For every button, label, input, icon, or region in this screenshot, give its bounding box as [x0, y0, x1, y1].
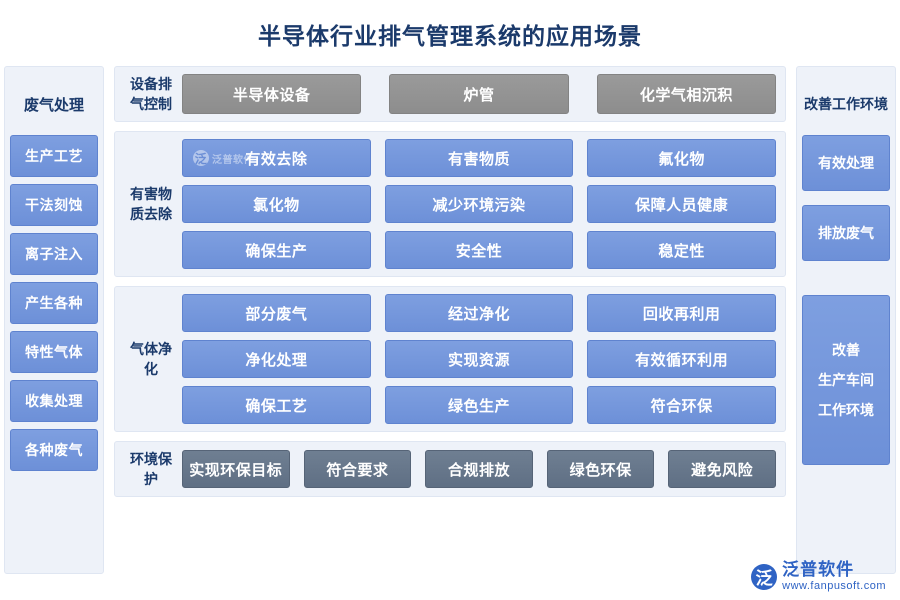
env-cell-0-2[interactable]: 合规排放 — [425, 450, 533, 488]
right-tall-line-0: 改善 — [832, 335, 860, 365]
brand-name: 泛普软件 — [782, 561, 886, 580]
purify-cell-1-2[interactable]: 有效循环利用 — [587, 340, 776, 378]
section-purify-row-0: 部分废气 经过净化 回收再利用 — [182, 294, 776, 332]
middle-column: 设备排气控制 半导体设备 炉管 化学气相沉积 有害物质去除 泛 泛普软件 — [110, 66, 790, 578]
left-item-4[interactable]: 特性气体 — [10, 331, 98, 373]
section-purify-row-1: 净化处理 实现资源 有效循环利用 — [182, 340, 776, 378]
left-item-5[interactable]: 收集处理 — [10, 380, 98, 422]
purify-cell-2-2[interactable]: 符合环保 — [587, 386, 776, 424]
brand-logo: 泛 泛普软件 www.fanpusoft.com — [751, 561, 886, 592]
harmful-cell-0-0[interactable]: 泛 泛普软件 有效去除 — [182, 139, 371, 177]
harmful-cell-2-0[interactable]: 确保生产 — [182, 231, 371, 269]
left-item-2[interactable]: 离子注入 — [10, 233, 98, 275]
harmful-cell-1-2[interactable]: 保障人员健康 — [587, 185, 776, 223]
env-cell-0-1[interactable]: 符合要求 — [304, 450, 412, 488]
left-item-3[interactable]: 产生各种 — [10, 282, 98, 324]
harmful-cell-2-2[interactable]: 稳定性 — [587, 231, 776, 269]
right-tall-line-2: 工作环境 — [818, 395, 874, 425]
right-panel-heading: 改善工作环境 — [802, 73, 890, 135]
env-cell-0-3[interactable]: 绿色环保 — [547, 450, 655, 488]
right-item-1[interactable]: 排放废气 — [802, 205, 890, 261]
section-purify-grid: 部分废气 经过净化 回收再利用 净化处理 实现资源 有效循环利用 确保工艺 绿色… — [182, 294, 776, 424]
section-env-row-0: 实现环保目标 符合要求 合规排放 绿色环保 避免风险 — [182, 450, 776, 488]
brand-mark-icon: 泛 — [751, 564, 777, 590]
purify-cell-2-1[interactable]: 绿色生产 — [385, 386, 574, 424]
purify-cell-2-0[interactable]: 确保工艺 — [182, 386, 371, 424]
work-environment-panel: 改善工作环境 有效处理 排放废气 改善 生产车间 工作环境 — [796, 66, 896, 574]
diagram-board: 废气处理 生产工艺 干法刻蚀 离子注入 产生各种 特性气体 收集处理 各种废气 … — [0, 66, 900, 578]
brand-url: www.fanpusoft.com — [782, 580, 886, 592]
harmful-cell-1-0[interactable]: 氯化物 — [182, 185, 371, 223]
section-env-label: 环境保护 — [124, 449, 182, 489]
right-tall-line-1: 生产车间 — [818, 365, 874, 395]
section-harmful-row-0: 泛 泛普软件 有效去除 有害物质 氟化物 — [182, 139, 776, 177]
section-purify-row-2: 确保工艺 绿色生产 符合环保 — [182, 386, 776, 424]
section-harmful-label: 有害物质去除 — [124, 184, 182, 224]
section-env-grid: 实现环保目标 符合要求 合规排放 绿色环保 避免风险 — [182, 450, 776, 488]
page-title: 半导体行业排气管理系统的应用场景 — [0, 0, 900, 66]
purify-cell-0-2[interactable]: 回收再利用 — [587, 294, 776, 332]
section-gas-purification: 气体净化 部分废气 经过净化 回收再利用 净化处理 实现资源 有效循环利用 确保… — [114, 286, 786, 432]
section-equipment-label: 设备排气控制 — [124, 74, 182, 114]
harmful-cell-0-2[interactable]: 氟化物 — [587, 139, 776, 177]
equipment-cell-0-1[interactable]: 炉管 — [389, 74, 568, 114]
purify-cell-1-1[interactable]: 实现资源 — [385, 340, 574, 378]
section-harmful-grid: 泛 泛普软件 有效去除 有害物质 氟化物 氯化物 减少环境污染 保障人员健康 确… — [182, 139, 776, 269]
right-item-0[interactable]: 有效处理 — [802, 135, 890, 191]
left-item-6[interactable]: 各种废气 — [10, 429, 98, 471]
watermark-text: 泛普软件 — [212, 151, 254, 166]
harmful-cell-2-1[interactable]: 安全性 — [385, 231, 574, 269]
section-purify-label: 气体净化 — [124, 339, 182, 379]
left-item-0[interactable]: 生产工艺 — [10, 135, 98, 177]
left-panel-heading: 废气处理 — [10, 73, 98, 135]
env-cell-0-4[interactable]: 避免风险 — [668, 450, 776, 488]
section-environment-protection: 环境保护 实现环保目标 符合要求 合规排放 绿色环保 避免风险 — [114, 441, 786, 497]
waste-gas-panel: 废气处理 生产工艺 干法刻蚀 离子注入 产生各种 特性气体 收集处理 各种废气 — [4, 66, 104, 574]
section-harmful-removal: 有害物质去除 泛 泛普软件 有效去除 有害物质 氟化物 氯化物 减少环境污染 — [114, 131, 786, 277]
right-item-tall[interactable]: 改善 生产车间 工作环境 — [802, 295, 890, 465]
left-item-1[interactable]: 干法刻蚀 — [10, 184, 98, 226]
left-column: 废气处理 生产工艺 干法刻蚀 离子注入 产生各种 特性气体 收集处理 各种废气 — [0, 66, 110, 578]
section-equipment-control: 设备排气控制 半导体设备 炉管 化学气相沉积 — [114, 66, 786, 122]
section-harmful-row-1: 氯化物 减少环境污染 保障人员健康 — [182, 185, 776, 223]
section-harmful-row-2: 确保生产 安全性 稳定性 — [182, 231, 776, 269]
equipment-cell-0-2[interactable]: 化学气相沉积 — [597, 74, 776, 114]
harmful-cell-1-1[interactable]: 减少环境污染 — [385, 185, 574, 223]
purify-cell-1-0[interactable]: 净化处理 — [182, 340, 371, 378]
purify-cell-0-0[interactable]: 部分废气 — [182, 294, 371, 332]
section-equipment-grid: 半导体设备 炉管 化学气相沉积 — [182, 74, 776, 114]
brand-text: 泛普软件 www.fanpusoft.com — [782, 561, 886, 592]
section-equipment-row-0: 半导体设备 炉管 化学气相沉积 — [182, 74, 776, 114]
harmful-cell-0-1[interactable]: 有害物质 — [385, 139, 574, 177]
equipment-cell-0-0[interactable]: 半导体设备 — [182, 74, 361, 114]
right-column: 改善工作环境 有效处理 排放废气 改善 生产车间 工作环境 — [790, 66, 900, 578]
env-cell-0-0[interactable]: 实现环保目标 — [182, 450, 290, 488]
watermark-mark-icon: 泛 — [193, 150, 209, 166]
purify-cell-0-1[interactable]: 经过净化 — [385, 294, 574, 332]
harmful-cell-0-0-label: 有效去除 — [245, 148, 307, 169]
watermark-logo: 泛 泛普软件 — [193, 150, 254, 166]
